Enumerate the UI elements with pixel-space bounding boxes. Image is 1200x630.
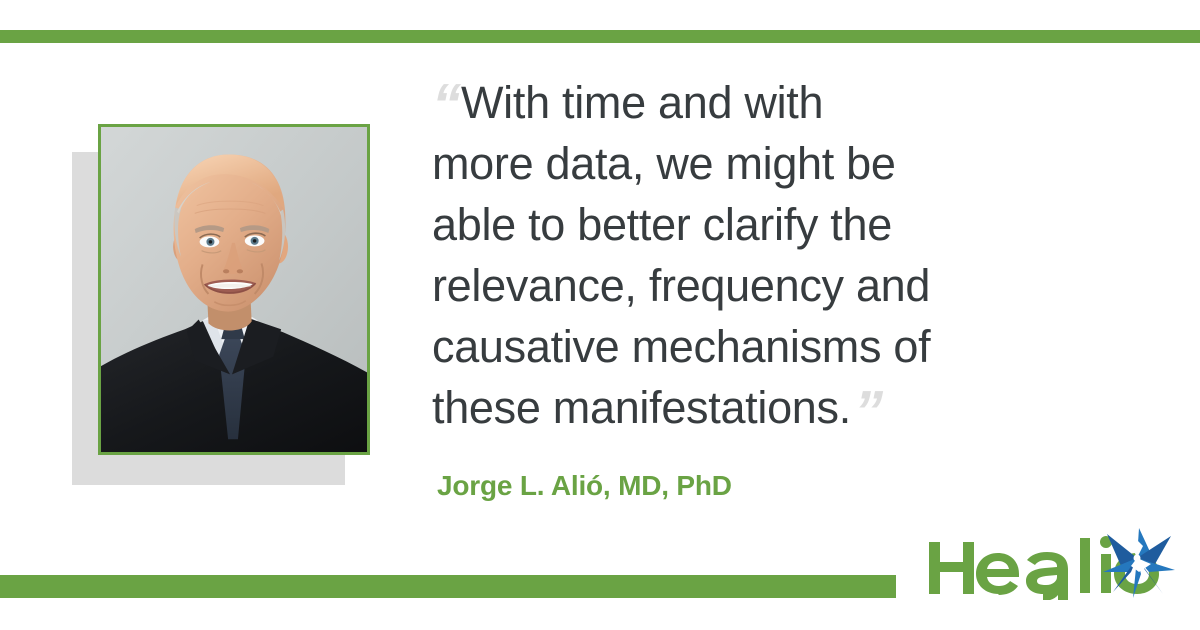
quote-line-text: able to better clarify the [432, 199, 892, 250]
quote-line-text: With time and with [461, 77, 823, 128]
quote-line: these manifestations.” [432, 377, 1032, 438]
quote-line-text: more data, we might be [432, 138, 896, 189]
portrait-photo [98, 124, 370, 455]
quote-line-text: these manifestations. [432, 382, 851, 433]
quote-card: “With time and with more data, we might … [0, 0, 1200, 630]
quote-line: “With time and with [432, 72, 1032, 133]
quote-line: relevance, frequency and [432, 255, 1032, 316]
quote-line: causative mechanisms of [432, 316, 1032, 377]
healio-logo[interactable] [925, 528, 1175, 600]
bottom-green-rule [0, 575, 896, 598]
quote-line-text: relevance, frequency and [432, 260, 930, 311]
quote-block: “With time and with more data, we might … [432, 72, 1032, 438]
quote-line: able to better clarify the [432, 194, 1032, 255]
top-green-rule [0, 30, 1200, 43]
quote-line: more data, we might be [432, 133, 1032, 194]
quote-text: “With time and with more data, we might … [432, 72, 1032, 438]
attribution-name: Jorge L. Alió, MD, PhD [437, 470, 732, 502]
quote-line-text: causative mechanisms of [432, 321, 930, 372]
